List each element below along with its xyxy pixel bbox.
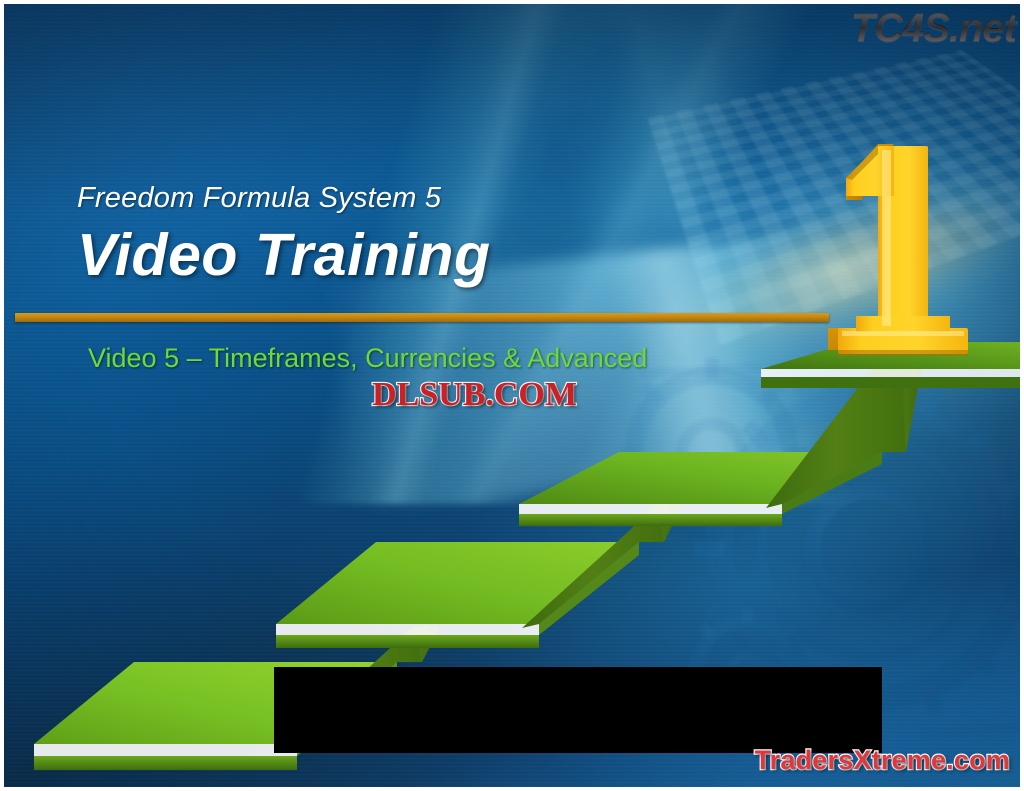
slide-eyebrow: Freedom Formula System 5 bbox=[77, 182, 441, 215]
title-divider bbox=[15, 313, 829, 322]
stair-step-2 bbox=[276, 542, 639, 648]
black-redaction-bar bbox=[274, 667, 882, 753]
tradersxtreme-logo: TradersXtreme.com bbox=[754, 745, 1010, 776]
presentation-slide: Freedom Formula System 5 Video Training … bbox=[0, 0, 1024, 791]
dlsub-watermark: DLSUB.COM bbox=[372, 376, 577, 414]
keyboard-texture bbox=[647, 49, 1024, 344]
warm-glow bbox=[594, 66, 1024, 481]
stair-step-3 bbox=[519, 452, 882, 526]
page-title: Video Training bbox=[77, 221, 491, 289]
step-number-badge bbox=[816, 122, 986, 372]
stair-step-4 bbox=[761, 342, 1024, 388]
slide-subtitle: Video 5 – Timeframes, Currencies & Advan… bbox=[88, 340, 658, 377]
tc4s-logo: TC4S.net bbox=[851, 6, 1016, 51]
